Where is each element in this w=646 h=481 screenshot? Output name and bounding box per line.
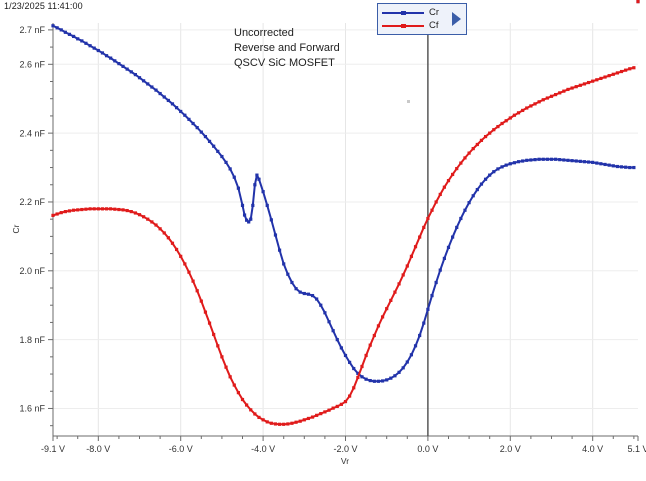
y-axis-title: Cr — [11, 224, 21, 233]
axis-tick-labels: -9.1 V-8.0 V-6.0 V-4.0 V-2.0 V0.0 V2.0 V… — [19, 25, 646, 454]
grid-lines — [53, 23, 638, 436]
x-axis-title: Vr — [341, 456, 349, 466]
annotation-line-1: Uncorrected — [234, 27, 294, 39]
annotation-line-3: QSCV SiC MOSFET — [234, 57, 335, 69]
svg-text:2.0 nF: 2.0 nF — [19, 266, 45, 276]
legend-label-cr: Cr — [429, 7, 439, 18]
legend-swatch-cf — [382, 20, 424, 31]
stray-marker-dot — [407, 100, 410, 103]
svg-text:-4.0 V: -4.0 V — [251, 444, 275, 454]
svg-text:1.6 nF: 1.6 nF — [19, 404, 45, 414]
axis-ticks — [48, 30, 638, 441]
legend-label-cf: Cf — [429, 20, 439, 31]
chart-window: 1/23/2025 11:41:00 -9.1 V-8.0 V-6.0 V-4.… — [0, 0, 646, 481]
svg-text:2.7 nF: 2.7 nF — [19, 25, 45, 35]
svg-text:2.0 V: 2.0 V — [500, 444, 521, 454]
chart-plot[interactable]: -9.1 V-8.0 V-6.0 V-4.0 V-2.0 V0.0 V2.0 V… — [0, 0, 646, 481]
legend-swatch-cr — [382, 7, 424, 18]
svg-text:2.6 nF: 2.6 nF — [19, 60, 45, 70]
legend-item-cf[interactable]: Cf — [382, 19, 439, 32]
chart-legend[interactable]: Cr Cf — [377, 3, 467, 35]
svg-text:-6.0 V: -6.0 V — [169, 444, 193, 454]
svg-text:4.0 V: 4.0 V — [582, 444, 603, 454]
svg-text:1.8 nF: 1.8 nF — [19, 335, 45, 345]
triangle-right-icon[interactable] — [452, 12, 461, 26]
annotation-line-2: Reverse and Forward — [234, 42, 340, 54]
svg-text:0.0 V: 0.0 V — [417, 444, 438, 454]
svg-text:-9.1 V: -9.1 V — [41, 444, 65, 454]
legend-item-cr[interactable]: Cr — [382, 6, 439, 19]
svg-text:2.2 nF: 2.2 nF — [19, 197, 45, 207]
svg-text:5.1 V: 5.1 V — [627, 444, 646, 454]
svg-text:-8.0 V: -8.0 V — [86, 444, 110, 454]
svg-text:2.4 nF: 2.4 nF — [19, 128, 45, 138]
svg-text:-2.0 V: -2.0 V — [333, 444, 357, 454]
